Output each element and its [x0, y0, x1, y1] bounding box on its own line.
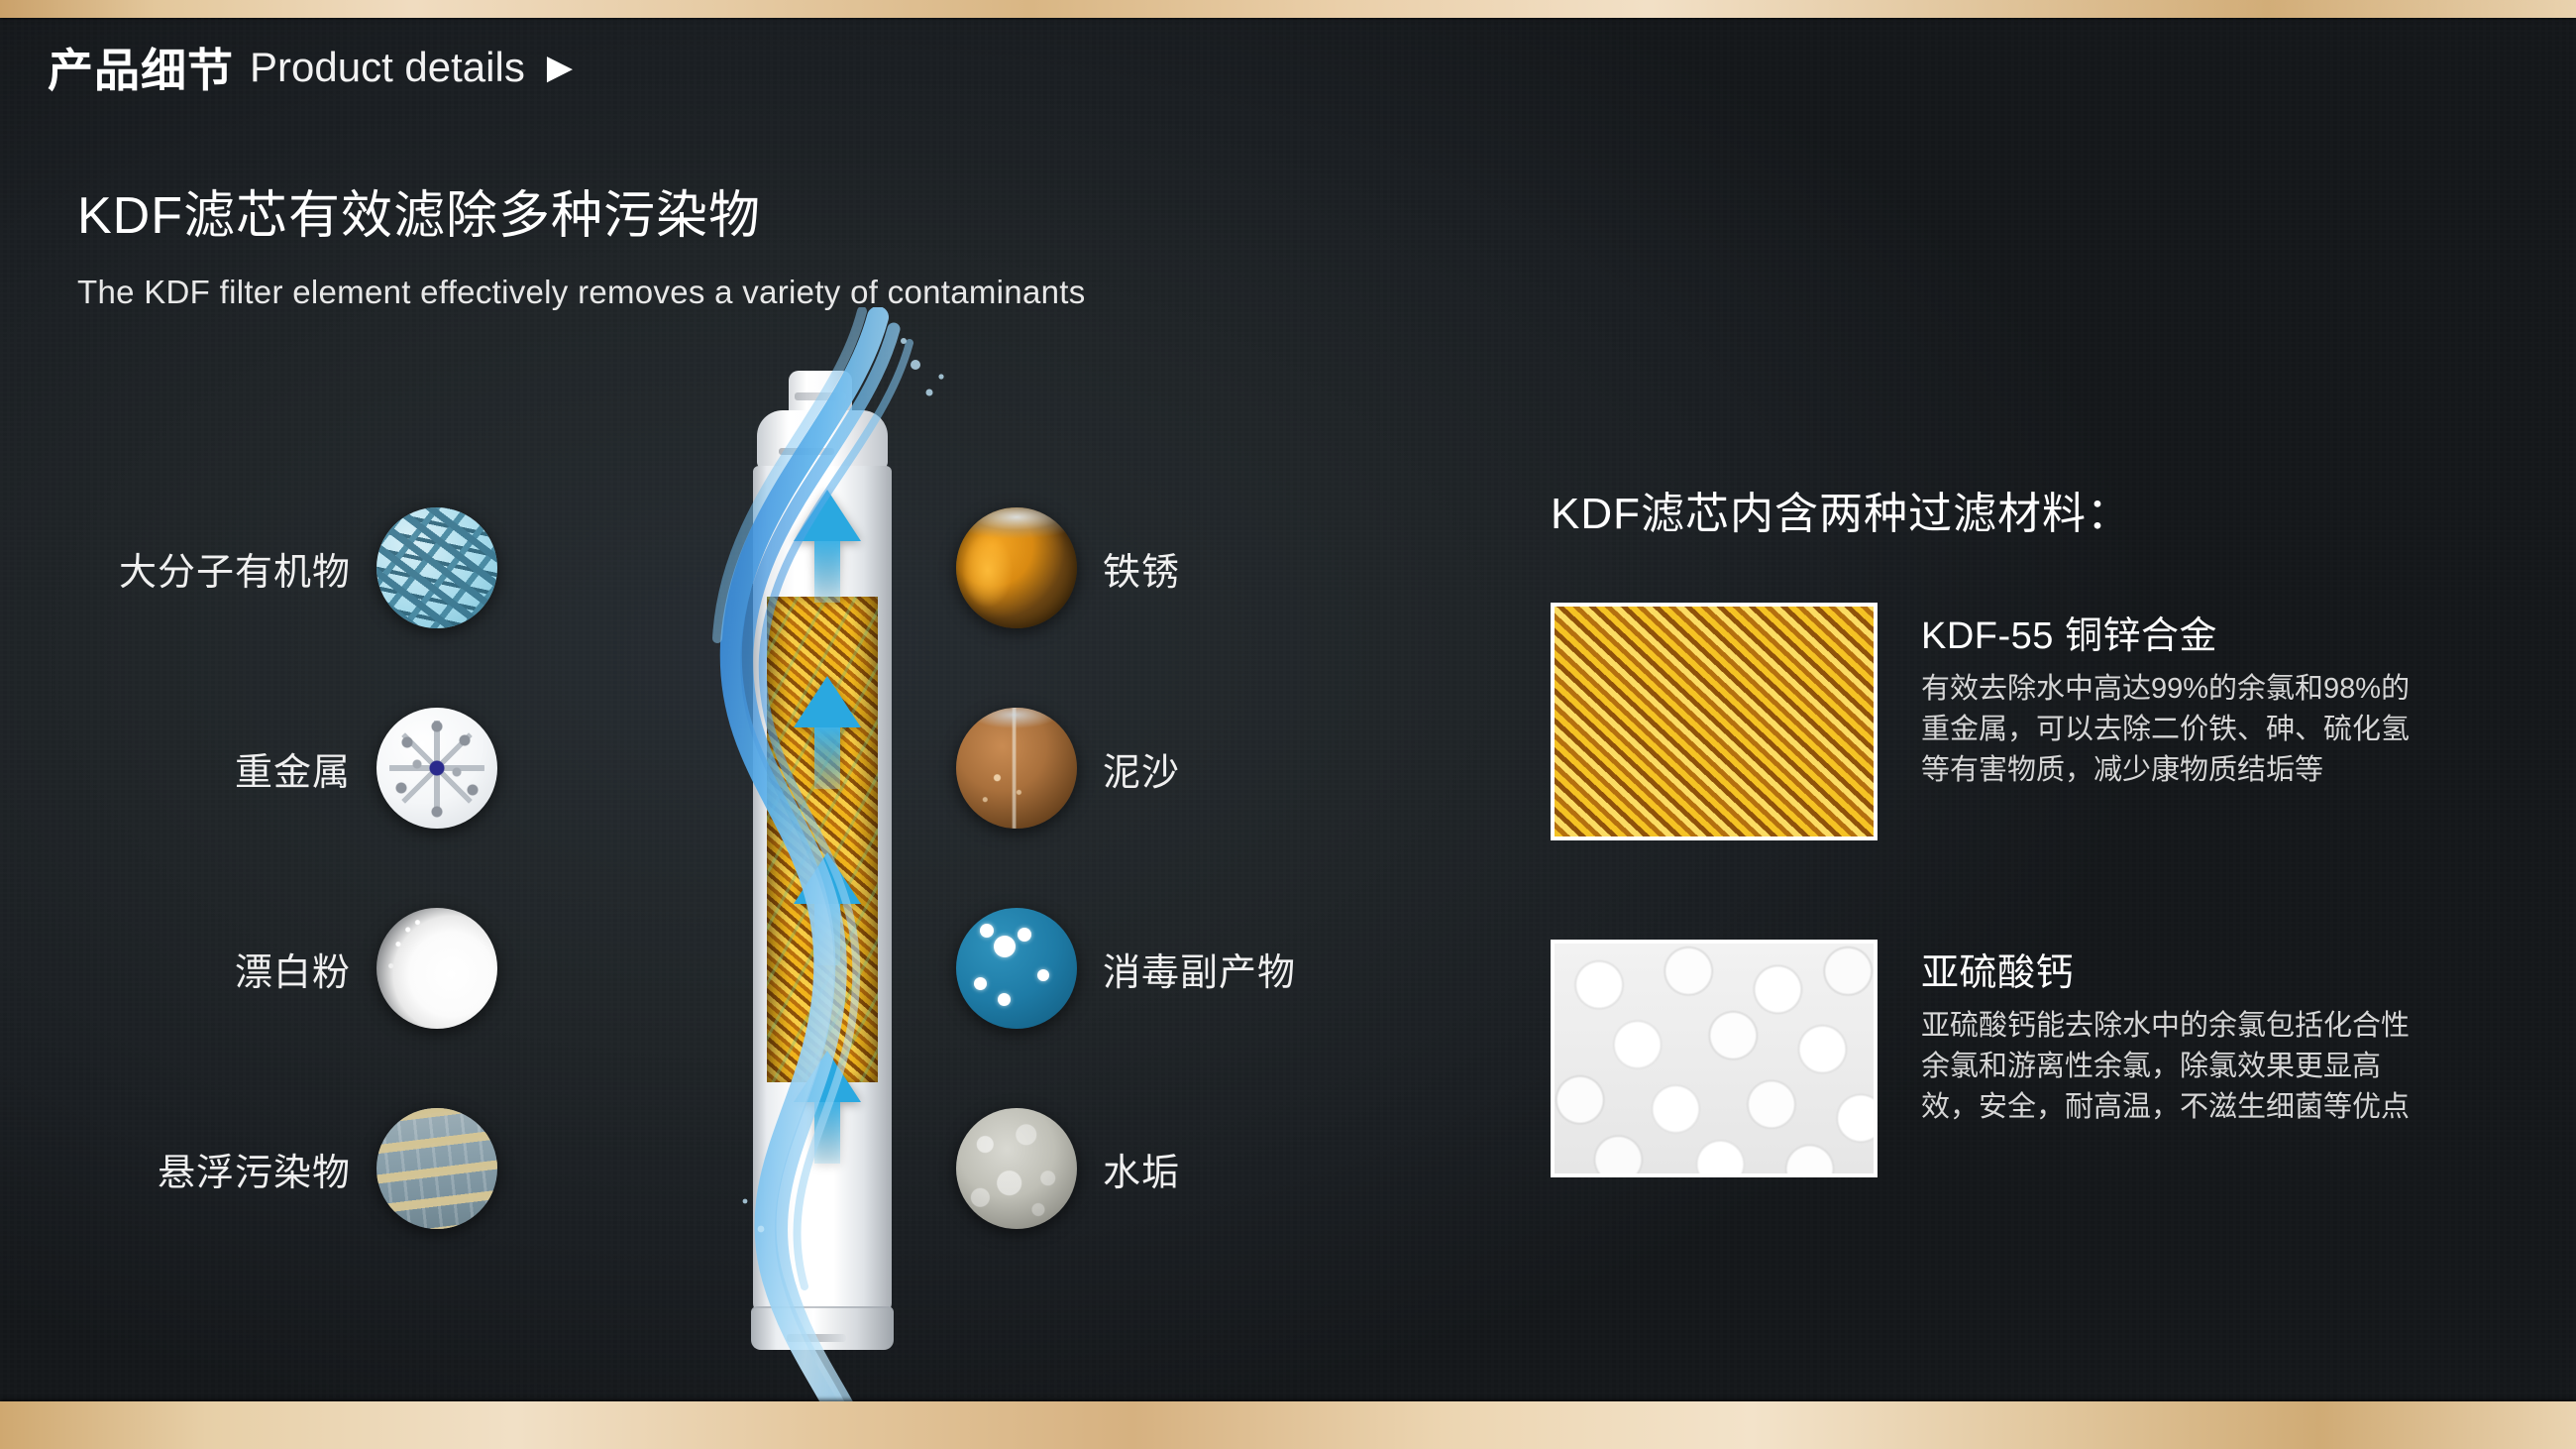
molecule-atom — [994, 936, 1016, 957]
contaminant-label: 消毒副产物 — [1103, 942, 1296, 996]
bleaching-powder-icon — [376, 908, 497, 1029]
header-title-en: Product details — [250, 44, 525, 91]
page-title: KDF滤芯有效滤除多种污染物 — [77, 173, 1086, 248]
list-item: 悬浮污染物 — [158, 1108, 497, 1229]
contaminant-label: 大分子有机物 — [119, 541, 351, 596]
list-item: 消毒副产物 — [956, 908, 1296, 1029]
bottom-gold-divider — [0, 1401, 2576, 1449]
contaminant-label: 水垢 — [1103, 1142, 1180, 1196]
molecule-spokes — [389, 721, 484, 816]
silt-sediment-icon — [956, 708, 1077, 829]
product-details-page: 产品细节 Product details ▶ KDF滤芯有效滤除多种污染物 Th… — [0, 0, 2576, 1449]
organic-matter-icon — [376, 507, 497, 628]
disinfection-byproducts-icon — [956, 908, 1077, 1029]
contaminant-label: 悬浮污染物 — [158, 1142, 351, 1196]
contaminant-list-right: 铁锈 泥沙 消毒副产物 水垢 — [956, 507, 1296, 1229]
contaminant-list-left: 大分子有机物 重金属 漂白粉 悬浮污染物 — [119, 507, 497, 1229]
list-item: 漂白粉 — [235, 908, 497, 1029]
heavy-metals-icon — [376, 708, 497, 829]
material-description: 有效去除水中高达99%的余氯和98%的重金属，可以去除二价铁、砷、硫化氢等有害物… — [1921, 669, 2436, 792]
list-item: 铁锈 — [956, 507, 1180, 628]
cartridge-nozzle — [789, 371, 852, 414]
molecule-atom — [1018, 928, 1031, 942]
iron-rust-icon — [956, 507, 1077, 628]
material-name: KDF-55 铜锌合金 — [1921, 605, 2482, 659]
page-subtitle: The KDF filter element effectively remov… — [77, 274, 1086, 311]
list-item: 泥沙 — [956, 708, 1180, 829]
materials-panel-title: KDF滤芯内含两种过滤材料： — [1551, 478, 2482, 541]
material-item-calcium-sulfite: 亚硫酸钙 亚硫酸钙能去除水中的余氯包括化合性余氯和游离性余氯，除氯效果更显高效，… — [1551, 940, 2482, 1177]
flow-arrow-up-icon — [794, 1051, 861, 1102]
cartridge-cap — [757, 410, 888, 470]
molecule-atom — [998, 993, 1011, 1006]
kdf-filter-cartridge — [654, 367, 991, 1449]
material-text-block: 亚硫酸钙 亚硫酸钙能去除水中的余氯包括化合性余氯和游离性余氯，除氯效果更显高效，… — [1921, 940, 2482, 1129]
molecule-atom — [974, 977, 987, 990]
list-item: 水垢 — [956, 1108, 1180, 1229]
contaminant-label: 重金属 — [235, 741, 351, 796]
limescale-icon — [956, 1108, 1077, 1229]
filter-materials-panel: KDF滤芯内含两种过滤材料： KDF-55 铜锌合金 有效去除水中高达99%的余… — [1551, 478, 2482, 1177]
top-gold-divider — [0, 0, 2576, 18]
flow-arrow-up-icon — [794, 852, 861, 904]
flow-arrow-up-icon — [794, 676, 861, 727]
molecule-atom — [1037, 969, 1049, 981]
cartridge-media-window — [767, 597, 878, 1082]
section-title-block: KDF滤芯有效滤除多种污染物 The KDF filter element ef… — [77, 173, 1086, 311]
contaminant-label: 漂白粉 — [235, 942, 351, 996]
material-name: 亚硫酸钙 — [1921, 942, 2482, 996]
contaminant-label: 铁锈 — [1103, 541, 1180, 596]
kdf55-copper-zinc-granules-image — [1551, 603, 1878, 840]
contaminant-label: 泥沙 — [1103, 741, 1180, 796]
cartridge-base — [751, 1306, 894, 1350]
play-triangle-icon: ▶ — [547, 51, 573, 84]
material-description: 亚硫酸钙能去除水中的余氯包括化合性余氯和游离性余氯，除氯效果更显高效，安全，耐高… — [1921, 1006, 2436, 1129]
section-header-bar: 产品细节 Product details ▶ — [0, 18, 2576, 117]
header-title-cn: 产品细节 — [48, 35, 234, 100]
molecule-atom — [980, 924, 994, 938]
material-item-kdf55: KDF-55 铜锌合金 有效去除水中高达99%的余氯和98%的重金属，可以去除二… — [1551, 603, 2482, 840]
list-item: 重金属 — [235, 708, 497, 829]
flow-arrow-up-icon — [794, 490, 861, 541]
material-text-block: KDF-55 铜锌合金 有效去除水中高达99%的余氯和98%的重金属，可以去除二… — [1921, 603, 2482, 792]
suspended-pollutants-icon — [376, 1108, 497, 1229]
calcium-sulfite-pellets-image — [1551, 940, 1878, 1177]
list-item: 大分子有机物 — [119, 507, 497, 628]
